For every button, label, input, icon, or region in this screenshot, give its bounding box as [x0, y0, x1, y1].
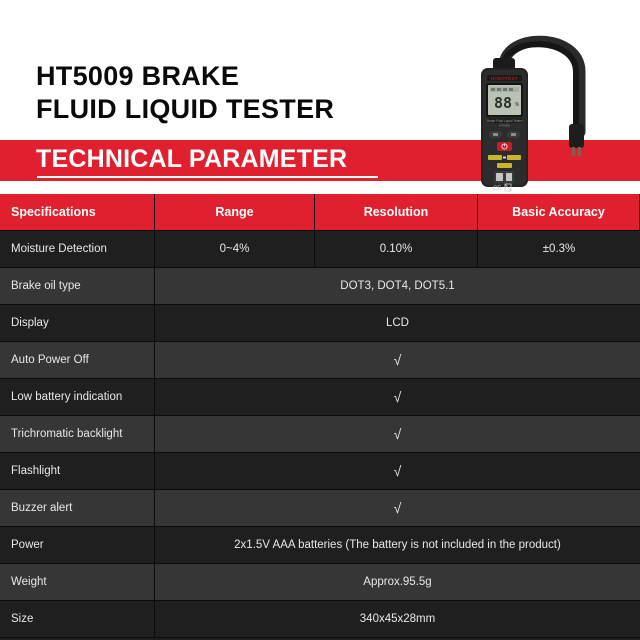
- table-row: Power 2x1.5V AAA batteries (The battery …: [0, 527, 640, 564]
- row-value-checkmark: √: [155, 379, 640, 415]
- page-title: HT5009 BRAKE FLUID LIQUID TESTER: [36, 60, 456, 126]
- row-label: Size: [0, 601, 155, 637]
- row-value-checkmark: √: [155, 416, 640, 452]
- table-row: Moisture Detection 0~4% 0.10% ±0.3%: [0, 231, 640, 268]
- row-value: Approx.95.5g: [155, 564, 640, 600]
- row-label: Weight: [0, 564, 155, 600]
- row-label: Low battery indication: [0, 379, 155, 415]
- product-spec-page: HT5009 BRAKE FLUID LIQUID TESTER TECHNIC…: [0, 0, 640, 640]
- svg-text:HT5009: HT5009: [499, 124, 510, 128]
- svg-text:%: %: [515, 102, 520, 108]
- table-row: Size 340x45x28mm: [0, 601, 640, 638]
- row-value: DOT3, DOT4, DOT5.1: [155, 268, 640, 304]
- row-value: LCD: [155, 305, 640, 341]
- header-basic-accuracy: Basic Accuracy: [478, 194, 640, 230]
- banner-underline: [37, 176, 378, 178]
- row-accuracy: ±0.3%: [478, 231, 640, 267]
- specifications-table: Specifications Range Resolution Basic Ac…: [0, 194, 640, 640]
- row-range: 0~4%: [155, 231, 315, 267]
- table-row: Auto Power Off √: [0, 342, 640, 379]
- row-label: Flashlight: [0, 453, 155, 489]
- row-value: 340x45x28mm: [155, 601, 640, 637]
- table-row: Flashlight √: [0, 453, 640, 490]
- row-label: Display: [0, 305, 155, 341]
- title-line-2: FLUID LIQUID TESTER: [36, 93, 456, 126]
- svg-text:88: 88: [494, 94, 512, 112]
- row-value-checkmark: √: [155, 490, 640, 526]
- table-row: Buzzer alert √: [0, 490, 640, 527]
- row-label: Power: [0, 527, 155, 563]
- table-row: Display LCD: [0, 305, 640, 342]
- table-row: Trichromatic backlight √: [0, 416, 640, 453]
- banner-heading: TECHNICAL PARAMETER: [36, 145, 347, 174]
- row-value-checkmark: √: [155, 453, 640, 489]
- header-resolution: Resolution: [315, 194, 478, 230]
- row-label: Brake oil type: [0, 268, 155, 304]
- row-label: Moisture Detection: [0, 231, 155, 267]
- product-image: HABOTEST 88 % Brake Fluid Liquid Tester …: [462, 14, 640, 192]
- table-row: Weight Approx.95.5g: [0, 564, 640, 601]
- row-label: Auto Power Off: [0, 342, 155, 378]
- svg-text:HABOTEST: HABOTEST: [491, 76, 518, 81]
- row-value-checkmark: √: [155, 342, 640, 378]
- table-row: Brake oil type DOT3, DOT4, DOT5.1: [0, 268, 640, 305]
- svg-text:CE: CE: [493, 186, 501, 192]
- header-range: Range: [155, 194, 315, 230]
- row-label: Trichromatic backlight: [0, 416, 155, 452]
- header-specifications: Specifications: [0, 194, 155, 230]
- title-line-1: HT5009 BRAKE: [36, 60, 456, 93]
- table-row: Low battery indication √: [0, 379, 640, 416]
- row-resolution: 0.10%: [315, 231, 478, 267]
- table-header-row: Specifications Range Resolution Basic Ac…: [0, 194, 640, 231]
- svg-text:Brake Fluid Liquid Tester: Brake Fluid Liquid Tester: [487, 119, 523, 123]
- row-label: Buzzer alert: [0, 490, 155, 526]
- row-value: 2x1.5V AAA batteries (The battery is not…: [155, 527, 640, 563]
